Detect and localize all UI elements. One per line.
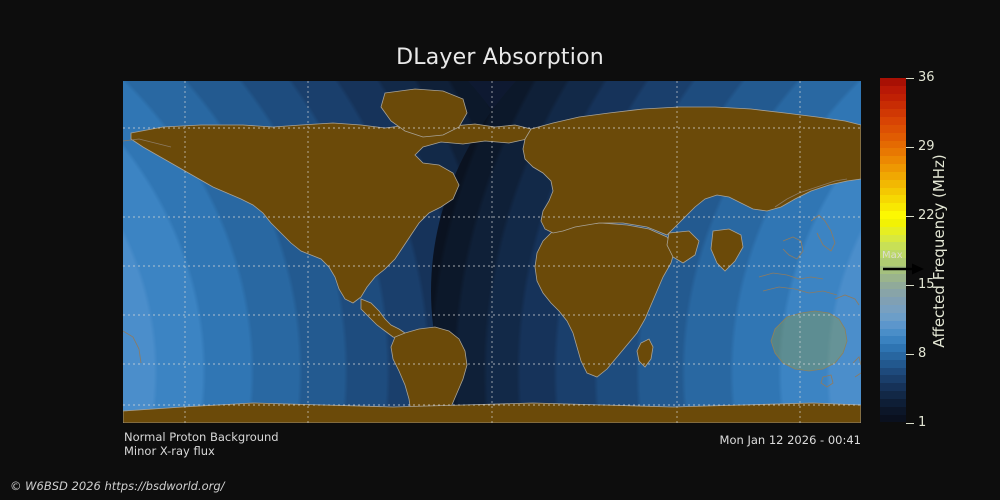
timestamp: Mon Jan 12 2026 - 00:41	[720, 433, 861, 447]
colorbar-segment	[880, 109, 906, 117]
colorbar-segment	[880, 227, 906, 235]
colorbar-segment	[880, 407, 906, 415]
colorbar-segment	[880, 203, 906, 211]
colorbar-segment	[880, 313, 906, 321]
colorbar-segment	[880, 235, 906, 243]
colorbar	[880, 78, 906, 423]
colorbar-tick	[906, 78, 914, 79]
colorbar-segment	[880, 305, 906, 313]
colorbar-segment	[880, 352, 906, 360]
colorbar-tick	[906, 354, 914, 355]
colorbar-tick	[906, 147, 914, 148]
colorbar-segment	[880, 321, 906, 329]
colorbar-segment	[880, 86, 906, 94]
colorbar-segment	[880, 117, 906, 125]
colorbar-segment	[880, 415, 906, 423]
colorbar-segment	[880, 219, 906, 227]
colorbar-segment	[880, 94, 906, 102]
colorbar-axis-title: Affected Frequency (MHz)	[929, 78, 949, 423]
colorbar-segment	[880, 148, 906, 156]
xray-flux-note: Minor X-ray flux	[124, 444, 215, 458]
colorbar-segment	[880, 368, 906, 376]
proton-background-note: Normal Proton Background	[124, 430, 279, 444]
colorbar-tick	[906, 216, 914, 217]
colorbar-segment	[880, 289, 906, 297]
colorbar-segment	[880, 344, 906, 352]
world-map-svg	[123, 81, 861, 423]
colorbar-segment	[880, 282, 906, 290]
colorbar-segment	[880, 266, 906, 274]
colorbar-segment	[880, 101, 906, 109]
colorbar-tick	[906, 285, 914, 286]
colorbar-segment	[880, 375, 906, 383]
colorbar-segment	[880, 383, 906, 391]
colorbar-segment	[880, 391, 906, 399]
colorbar-segment	[880, 125, 906, 133]
colorbar-segment	[880, 180, 906, 188]
colorbar-segment	[880, 399, 906, 407]
colorbar-segment	[880, 329, 906, 337]
page-title: DLayer Absorption	[0, 45, 1000, 70]
colorbar-segment	[880, 336, 906, 344]
colorbar-segment	[880, 188, 906, 196]
colorbar-tick-label: 8	[918, 346, 926, 361]
colorbar-segment	[880, 258, 906, 266]
colorbar-ticks: 3629221581	[906, 78, 996, 423]
colorbar-segment	[880, 78, 906, 86]
colorbar-tick-label: 1	[918, 415, 926, 430]
colorbar-segment	[880, 141, 906, 149]
colorbar-segment	[880, 156, 906, 164]
colorbar-segment	[880, 242, 906, 250]
colorbar-segment	[880, 360, 906, 368]
map-canvas	[123, 81, 861, 423]
colorbar-segment	[880, 211, 906, 219]
colorbar-tick	[906, 423, 914, 424]
colorbar-segment	[880, 297, 906, 305]
colorbar-segment	[880, 172, 906, 180]
colorbar-segment	[880, 195, 906, 203]
colorbar-segment	[880, 164, 906, 172]
colorbar-segment	[880, 274, 906, 282]
colorbar-segment	[880, 250, 906, 258]
copyright: © W6BSD 2026 https://bsdworld.org/	[10, 479, 225, 493]
colorbar-segment	[880, 133, 906, 141]
